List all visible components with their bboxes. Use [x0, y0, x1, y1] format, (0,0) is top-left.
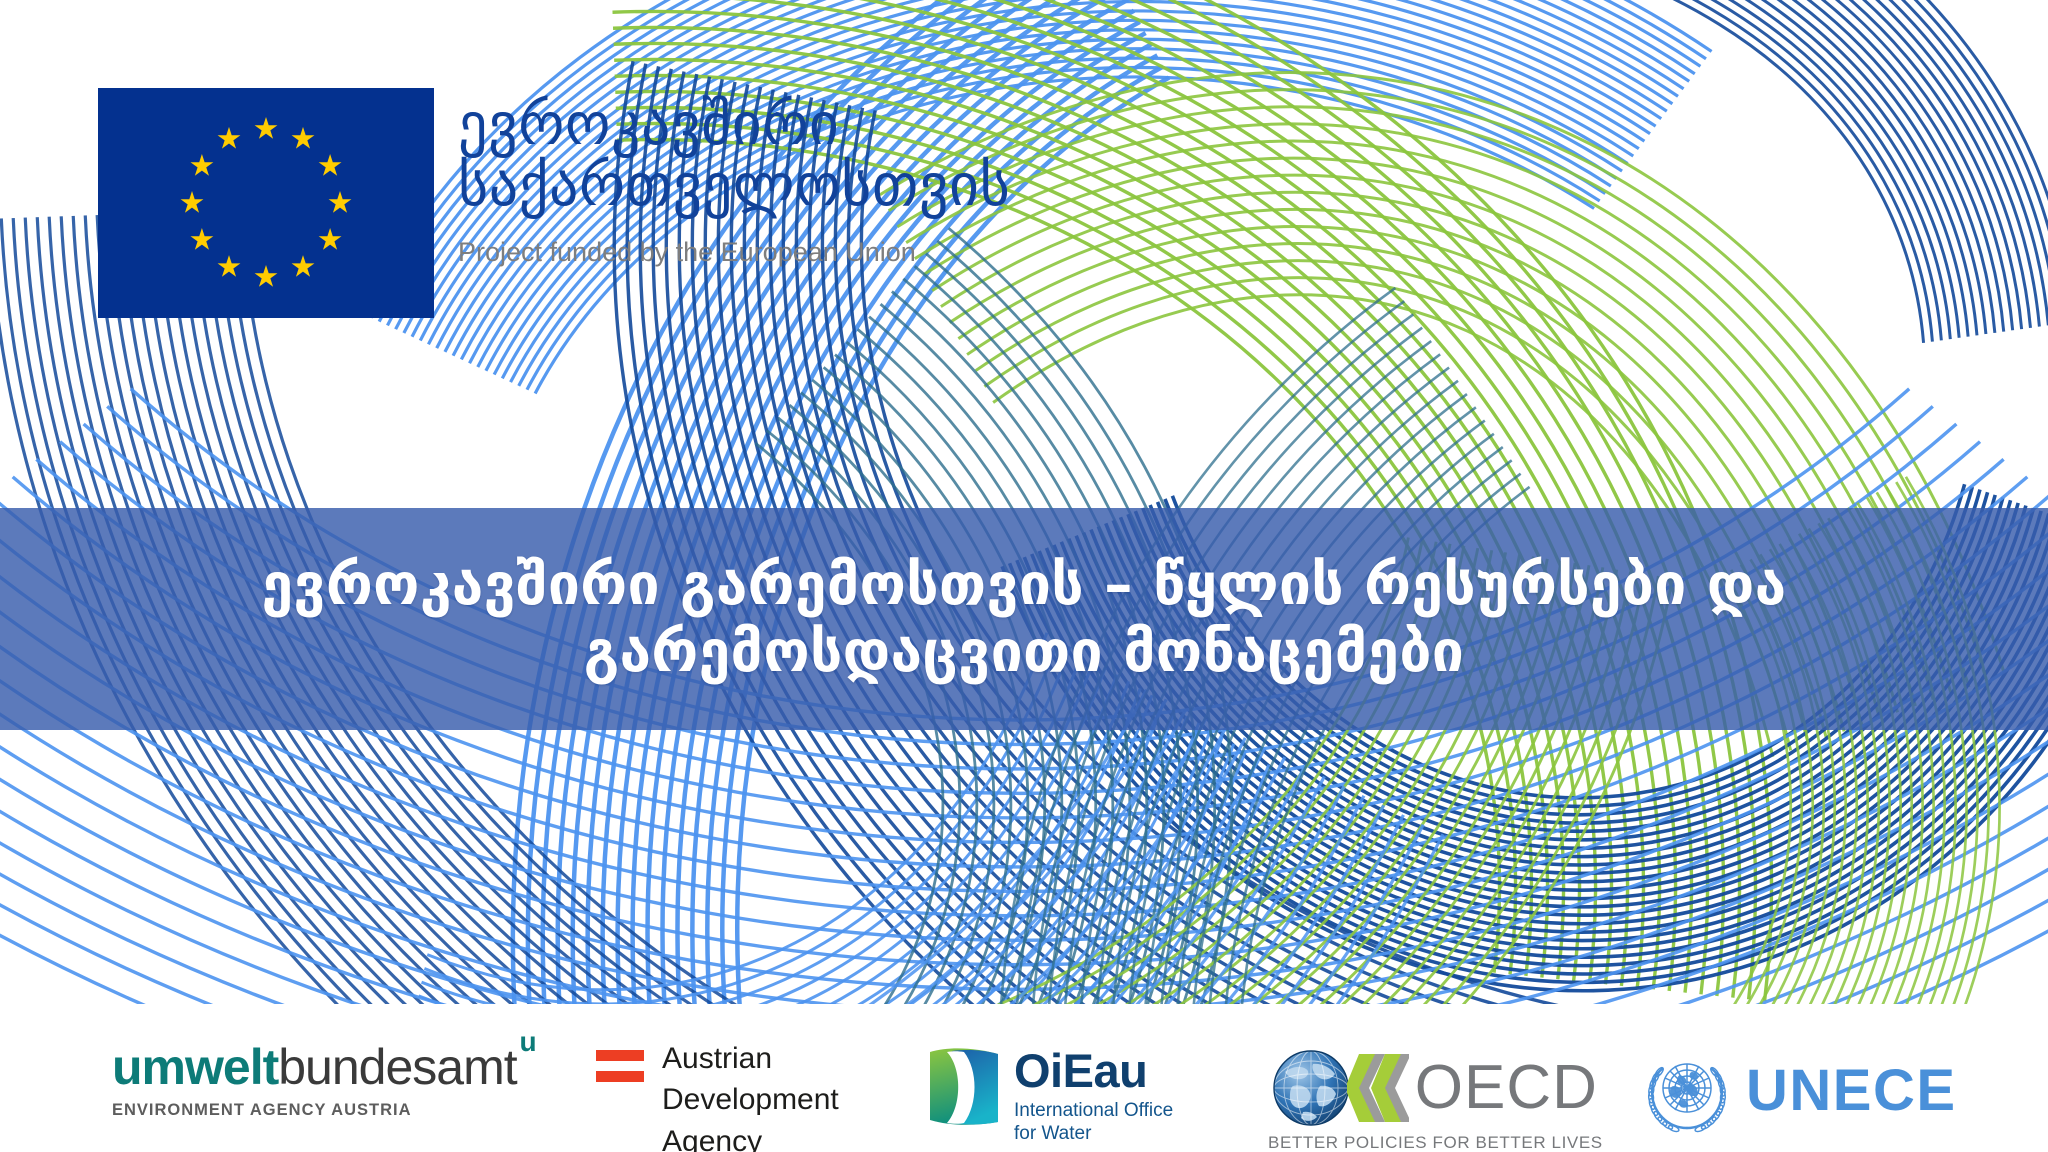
logo-austrian-development-agency: Austrian Development Agency [596, 1038, 839, 1152]
oieau-subtitle: International Office for Water [1014, 1100, 1173, 1146]
eu-logo-line1: ევროკავშირი [458, 94, 1010, 155]
eu-logo-line2: საქართველოსთვის [458, 155, 1010, 216]
slide-root: ევროკავშირი საქართველოსთვის Project fund… [0, 0, 2048, 1152]
umweltbundesamt-word-light: bundesamt [278, 1039, 516, 1095]
logo-unece: UNECE [1644, 1048, 1957, 1134]
eu-flag-icon [98, 88, 434, 318]
eu-logo: ევროკავშირი საქართველოსთვის Project fund… [98, 88, 1010, 318]
oecd-wordmark: OECD [1415, 1057, 1598, 1119]
umweltbundesamt-subtitle: ENVIRONMENT AGENCY AUSTRIA [112, 1101, 412, 1120]
page-title-line2: გარემოსდაცვითი მონაცემები [261, 619, 1786, 686]
ada-line2: Development [662, 1079, 839, 1120]
austria-flag-icon [596, 1050, 644, 1082]
ada-line1: Austrian [662, 1038, 839, 1079]
oieau-water-mark-icon [928, 1046, 1000, 1128]
page-title-line1: ევროკავშირი გარემოსთვის – წყლის რესურსებ… [261, 552, 1786, 619]
oecd-tagline: BETTER POLICIES FOR BETTER LIVES [1268, 1133, 1603, 1152]
ada-line3: Agency [662, 1121, 839, 1152]
un-emblem-icon [1644, 1048, 1730, 1134]
oieau-subtitle-line2: for Water [1014, 1123, 1173, 1146]
oieau-subtitle-line1: International Office [1014, 1100, 1173, 1123]
eu-logo-text: ევროკავშირი საქართველოსთვის Project fund… [458, 88, 1010, 268]
umweltbundesamt-superscript-icon: u [520, 1028, 537, 1056]
oecd-chevrons-icon [1347, 1052, 1409, 1124]
page-title: ევროკავშირი გარემოსთვის – წყლის რესურსებ… [261, 552, 1786, 685]
oieau-text: OiEau International Office for Water [1014, 1046, 1173, 1146]
eu-logo-caption: Project funded by the European Union [458, 237, 1010, 268]
umweltbundesamt-word-bold: umwelt [112, 1039, 278, 1095]
umweltbundesamt-wordmark: umweltbundesamtu [112, 1042, 517, 1092]
globe-icon [1273, 1050, 1349, 1126]
ada-wordmark: Austrian Development Agency [662, 1038, 839, 1152]
title-band: ევროკავშირი გარემოსთვის – წყლის რესურსებ… [0, 508, 2048, 730]
logo-umweltbundesamt: umweltbundesamtu ENVIRONMENT AGENCY AUST… [112, 1042, 517, 1120]
logo-oieau: OiEau International Office for Water [928, 1046, 1173, 1146]
unece-wordmark: UNECE [1746, 1062, 1957, 1120]
oecd-row: OECD [1273, 1050, 1598, 1126]
oieau-wordmark: OiEau [1014, 1047, 1173, 1094]
logo-oecd: OECD BETTER POLICIES FOR BETTER LIVES [1268, 1050, 1603, 1152]
